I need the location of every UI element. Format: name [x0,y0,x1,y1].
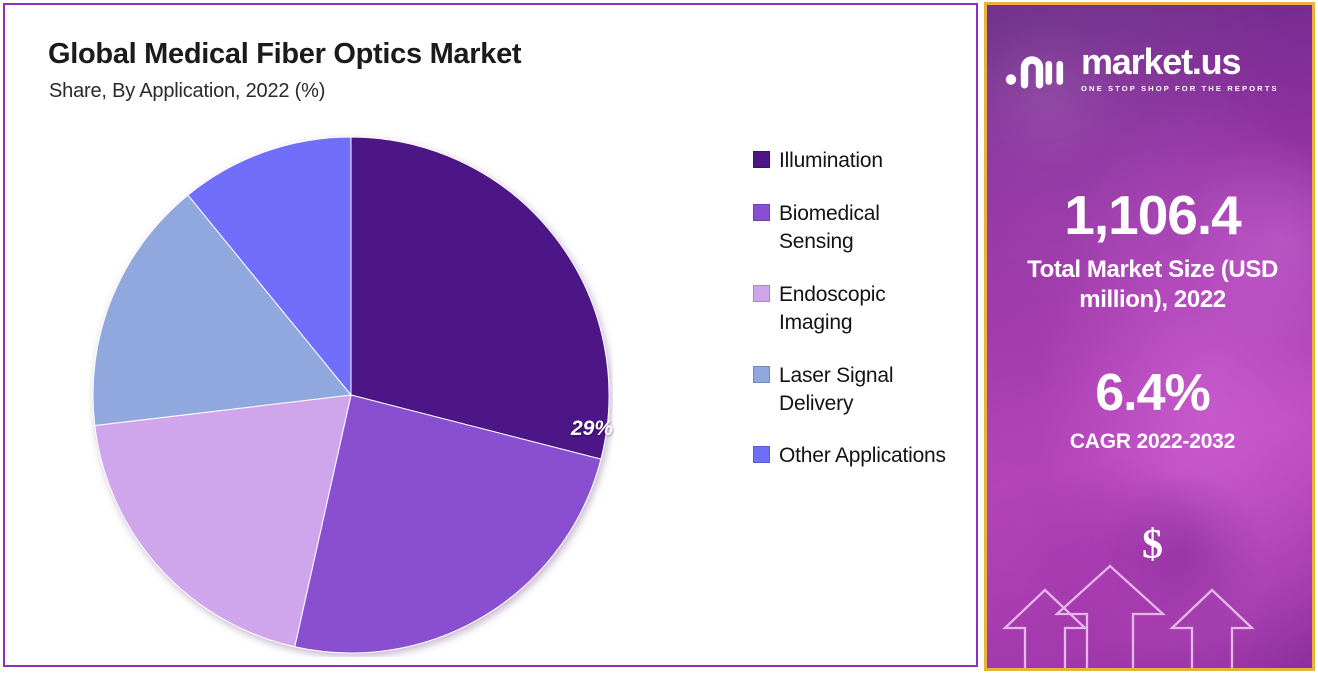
logo-wordmark: market.us [1081,44,1279,80]
pie-slice-group [93,137,609,653]
market-size-value: 1,106.4 [987,183,1315,247]
legend-item[interactable]: Endoscopic Imaging [753,281,963,337]
legend-swatch-icon [753,285,770,302]
chart-panel: Global Medical Fiber Optics Market Share… [3,3,978,667]
legend-swatch-icon [753,151,770,168]
chart-subtitle: Share, By Application, 2022 (%) [49,80,325,103]
legend-item-label: Laser Signal Delivery [779,362,959,418]
market-us-logo: market.us ONE STOP SHOP FOR THE REPORTS [1003,43,1279,93]
page-title: Global Medical Fiber Optics Market [48,38,521,71]
cagr-value: 6.4% [987,363,1315,423]
legend-swatch-icon [753,446,770,463]
legend-swatch-icon [753,366,770,383]
market-size-caption: Total Market Size (USD million), 2022 [987,255,1315,315]
market-us-logo-icon [1003,43,1069,93]
legend-item[interactable]: Illumination [753,147,963,175]
growth-arrows-icon [987,478,1315,668]
legend-item[interactable]: Biomedical Sensing [753,200,963,256]
legend-item-label: Illumination [779,147,883,175]
legend-item[interactable]: Laser Signal Delivery [753,362,963,418]
bokeh-decoration [984,15,1117,175]
brand-panel: market.us ONE STOP SHOP FOR THE REPORTS … [984,2,1315,671]
pie-slice-label-illumination: 29% [571,417,613,441]
infographic-page: Global Medical Fiber Optics Market Share… [0,0,1318,673]
pie-svg [89,133,613,657]
legend-swatch-icon [753,204,770,221]
pie-chart: 29% [89,133,613,657]
chart-legend: IlluminationBiomedical SensingEndoscopic… [753,147,963,495]
legend-item[interactable]: Other Applications [753,442,963,470]
legend-item-label: Biomedical Sensing [779,200,959,256]
logo-tagline: ONE STOP SHOP FOR THE REPORTS [1081,84,1279,93]
legend-item-label: Endoscopic Imaging [779,281,959,337]
legend-item-label: Other Applications [779,442,946,470]
dollar-sign-icon: $ [987,521,1315,569]
cagr-caption: CAGR 2022-2032 [987,428,1315,455]
